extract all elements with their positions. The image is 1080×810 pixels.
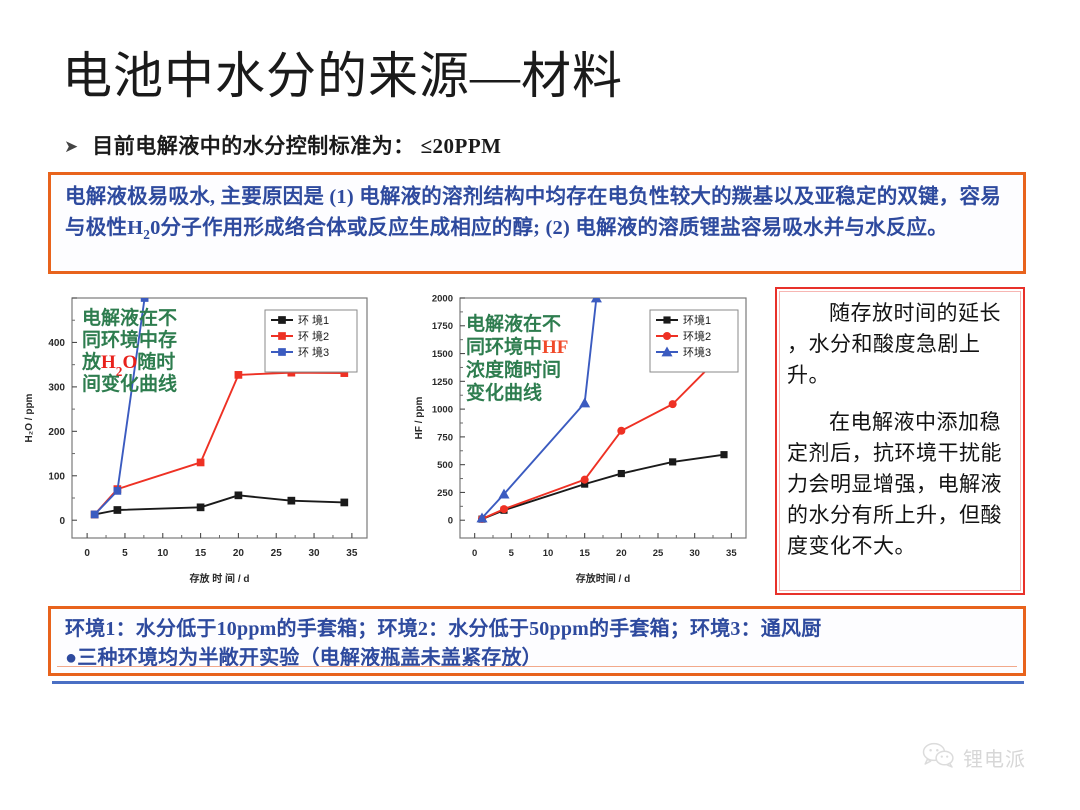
series-line [482,455,724,519]
y-tick-label: 750 [437,432,453,443]
side-callout-paragraph-2: 在电解液中添加稳定剂后，抗环境干扰能力会明显增强，电解液的水分有所上升，但酸度变… [787,407,1015,562]
chart-annotation: 电解液在不同环境中HF浓度随时间变化曲线 [466,312,568,404]
x-tick-label: 20 [616,548,627,559]
y-tick-label: 1000 [432,405,453,416]
top-callout-text: 电解液极易吸水, 主要原因是 (1) 电解液的溶剂结构中均存在电负性较大的羰基以… [65,182,1011,250]
data-point-marker [141,294,149,302]
data-point-marker [663,332,671,340]
data-point-marker [669,400,677,408]
top-callout-line1: 电解液极易吸水, 主要原因是 (1) 电解液的溶剂结构中均存在电负性较大的羰基以 [65,186,794,208]
x-tick-label: 30 [689,548,700,559]
bottom-callout-box: 环境1：水分低于10ppm的手套箱；环境2：水分低于50ppm的手套箱；环境3：… [48,606,1026,676]
data-point-marker [500,505,508,513]
y-tick-label: 0 [448,516,453,527]
y-tick-label: 1500 [432,349,453,360]
y-tick-label: 200 [48,427,65,438]
x-tick-label: 15 [195,548,207,559]
x-tick-label: 35 [726,548,737,559]
top-callout-box: 电解液极易吸水, 主要原因是 (1) 电解液的溶剂结构中均存在电负性较大的羰基以… [48,172,1026,274]
bullet-text: 目前电解液中的水分控制标准为： ≤20PPM [92,130,501,160]
chevron-right-icon: ➤ [64,138,78,155]
x-tick-label: 5 [122,548,128,559]
hf-concentration-chart-svg: 0510152025303502505007501000125015001750… [404,288,770,588]
chart-annotation-line: 间变化曲线 [82,372,177,395]
x-tick-label: 25 [271,548,283,559]
data-point-marker [278,348,286,356]
legend-entry-label: 环 境3 [298,345,329,359]
water-content-chart: 051015202530350100200300400存放 时 间 / dH₂O… [10,288,400,588]
y-tick-label: 250 [437,488,453,499]
y-axis-label: HF / ppm [414,397,425,440]
chart-annotation-line: 电解液在不 [82,306,177,329]
series-line [95,495,345,514]
page-title: 电池中水分的来源—材料 [62,36,623,108]
watermark: 锂电派 [922,742,1026,773]
x-tick-label: 10 [543,548,554,559]
data-point-marker [114,487,122,495]
x-tick-label: 0 [84,548,90,559]
data-point-marker [278,316,286,324]
chart-annotation-line: 同环境中存 [82,328,177,351]
y-tick-label: 500 [437,460,453,471]
data-point-marker [288,497,296,505]
data-point-marker [663,316,670,323]
data-point-marker [197,459,205,467]
top-callout-line3: 解液的溶质锂盐容易吸水并与水反应。 [596,217,948,239]
bottom-callout-line-1: 环境1：水分低于10ppm的手套箱；环境2：水分低于50ppm的手套箱；环境3：… [65,615,1013,644]
side-callout-box: 随存放时间的延长 ，水分和酸度急剧上升。 在电解液中添加稳定剂后，抗环境干扰能力… [775,287,1025,595]
data-point-marker [618,470,625,477]
x-tick-label: 35 [346,548,358,559]
legend-entry-label: 环境1 [683,313,711,327]
data-point-marker [340,499,348,507]
water-content-chart-svg: 051015202530350100200300400存放 时 间 / dH₂O… [10,288,400,588]
wechat-icon-svg [922,742,956,768]
chart-annotation-line: 电解液在不 [466,312,561,335]
chart-annotation-line: 浓度随时间 [466,358,561,381]
data-point-marker [579,397,590,407]
legend-entry-label: 环 境1 [298,313,329,327]
wechat-icon [922,742,956,773]
legend-entry-label: 环 境2 [298,329,329,343]
y-tick-label: 400 [48,338,65,349]
data-point-marker [617,427,625,435]
data-point-marker [114,506,122,514]
y-tick-label: 1750 [432,321,453,332]
data-point-marker [235,491,243,499]
bottom-callout-underline [57,666,1017,667]
y-tick-label: 100 [48,471,65,482]
x-axis-label: 存放 时 间 / d [190,572,250,585]
x-tick-label: 20 [233,548,245,559]
slide-canvas: 电池中水分的来源—材料 ➤ 目前电解液中的水分控制标准为： ≤20PPM 电解液… [0,0,1080,810]
chart-legend: 环 境1环 境2环 境3 [265,310,357,372]
chart-legend: 环境1环境2环境3 [650,310,738,372]
chart-annotation-line: 同环境中HF [466,335,568,358]
bullet-row: ➤ 目前电解液中的水分控制标准为： ≤20PPM [64,130,502,160]
x-tick-label: 30 [308,548,320,559]
data-point-marker [91,511,99,519]
x-tick-label: 25 [653,548,664,559]
data-point-marker [235,371,243,379]
chart-annotation-line: 变化曲线 [466,381,542,404]
legend-entry-label: 环境2 [683,329,711,343]
data-point-marker [669,458,676,465]
hf-concentration-chart: 0510152025303502505007501000125015001750… [404,288,770,588]
y-tick-label: 1250 [432,377,453,388]
legend-entry-label: 环境3 [683,345,711,359]
y-tick-label: 0 [59,516,65,527]
data-point-marker [720,451,727,458]
data-point-marker [197,503,205,511]
x-tick-label: 10 [157,548,169,559]
data-point-marker [581,476,589,484]
side-callout-paragraph-1: 随存放时间的延长 ，水分和酸度急剧上升。 [787,298,1015,391]
y-tick-label: 300 [48,382,65,393]
x-tick-label: 5 [509,548,515,559]
y-tick-label: 2000 [432,293,453,304]
top-callout-line2b: 0分子作用形成络合体或反应生成相应的醇; (2) 电 [150,217,596,239]
watermark-label: 锂电派 [963,743,1026,772]
chart-annotation: 电解液在不同环境中存放H2O随时间变化曲线 [81,306,177,395]
x-tick-label: 15 [579,548,590,559]
blue-divider-rule [52,681,1024,684]
data-point-marker [278,332,286,340]
x-axis-label: 存放时间 / d [576,572,630,585]
x-tick-label: 0 [472,548,477,559]
y-axis-label: H₂O / ppm [24,393,35,442]
bottom-callout-line-2: ●三种环境均为半敞开实验（电解液瓶盖未盖紧存放） [65,644,1013,673]
